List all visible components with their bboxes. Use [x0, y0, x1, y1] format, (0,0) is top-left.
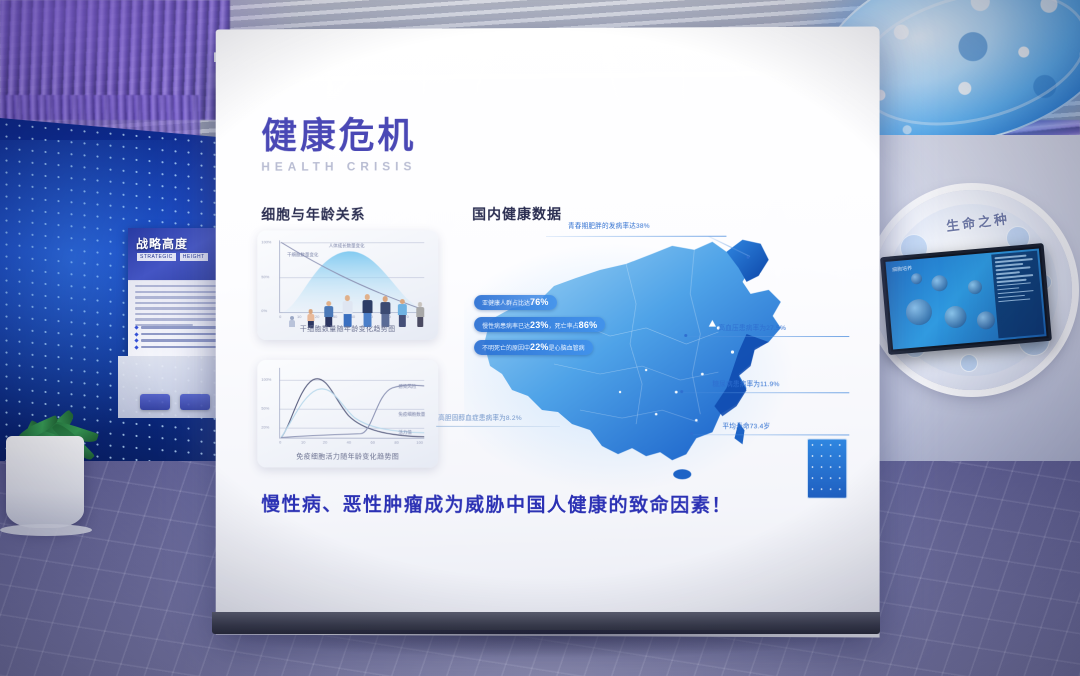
stat-pill-cardiovascular: 不明死亡的原因中22%是心脑血管病	[474, 339, 593, 354]
map-annotation-cholesterol: 高胆固醇血症患病率为8.2%	[438, 412, 522, 422]
china-health-map: 青春期肥胖的发病率达38% 亚健康人群占比达76% 慢性病患病率已达23%，死亡…	[450, 223, 861, 514]
map-annotation-top: 青春期肥胖的发病率达38%	[568, 220, 650, 230]
chart-card-stem-cell: 100% 50% 0% 0 10 20 30 40 50 60 70	[257, 230, 438, 340]
monitor-screen: 细胞培养	[885, 248, 1046, 349]
sign-en-word-1: STRATEGIC	[137, 253, 176, 261]
chart1-series-label-2: 干细胞数量变化	[287, 252, 318, 258]
plant-pot-base	[0, 524, 92, 536]
monitor-side-panel	[991, 251, 1044, 339]
chart-caption-immune-cell: 免疫细胞活力随年龄变化趋势图	[257, 451, 438, 461]
map-stat-pills: 亚健康人群占比达76% 慢性病患病率已达23%，死亡率占86% 不明死亡的原因中…	[474, 292, 634, 360]
map-annotation-diabetes: 糖尿病患病率为11.9%	[712, 378, 779, 388]
map-annotation-lifespan: 平均寿命73.4岁	[722, 420, 770, 430]
monitor-caption: 细胞培养	[892, 265, 913, 274]
sign-title: 战略高度	[136, 235, 228, 252]
wall-floor-shadow	[200, 630, 900, 658]
section-heading-health-data: 国内健康数据	[472, 204, 562, 224]
bottom-headline: 慢性病、恶性肿瘤成为威胁中国人健康的致命因素！	[261, 489, 841, 517]
infographic-board: 健康危机 HEALTH CRISIS 细胞与年龄关系 国内健康数据 100% 5…	[216, 26, 880, 637]
stat-pill-chronic: 慢性病患病率已达23%，死亡率占86%	[474, 317, 605, 332]
exhibition-scene: 战略高度 STRATEGIC HEIGHT	[0, 0, 1080, 676]
plant-pot	[6, 436, 84, 528]
chart2-legend-2: 免疫细胞数量	[398, 412, 425, 418]
main-display-wall: 健康危机 HEALTH CRISIS 细胞与年龄关系 国内健康数据 100% 5…	[216, 26, 880, 637]
inset-island-dots	[808, 439, 846, 497]
figure-young-adult	[341, 295, 354, 327]
chart2-legend-1: 感染风险	[398, 384, 416, 390]
board-title-block: 健康危机 HEALTH CRISIS	[261, 106, 416, 173]
stat-pill-subhealth: 亚健康人群占比达76%	[474, 294, 557, 309]
map-annotation-hypertension: 高血压患病率为27.5%	[718, 322, 786, 332]
china-map-shape	[450, 223, 861, 514]
figure-senior	[396, 299, 408, 327]
chart-caption-stem-cell: 干细胞数量随年龄变化趋势图	[257, 324, 438, 334]
figure-middle-age	[378, 296, 391, 327]
sign-en-word-2: HEIGHT	[180, 253, 208, 261]
chart1-series-label-1: 人体成长数量变化	[329, 243, 365, 249]
right-wall-monitor[interactable]: 细胞培养	[880, 243, 1052, 355]
chart-card-immune-cell: 100% 50% 20% 0 10 20 40 60 80 100 感染风险 免…	[257, 360, 438, 468]
section-heading-cell-age: 细胞与年龄关系	[261, 204, 365, 224]
chart2-plot	[257, 360, 438, 452]
chart2-legend-3: 活力值	[398, 430, 411, 436]
page-title: 健康危机	[261, 106, 416, 158]
figure-adult	[361, 294, 374, 327]
page-subtitle: HEALTH CRISIS	[261, 159, 416, 173]
